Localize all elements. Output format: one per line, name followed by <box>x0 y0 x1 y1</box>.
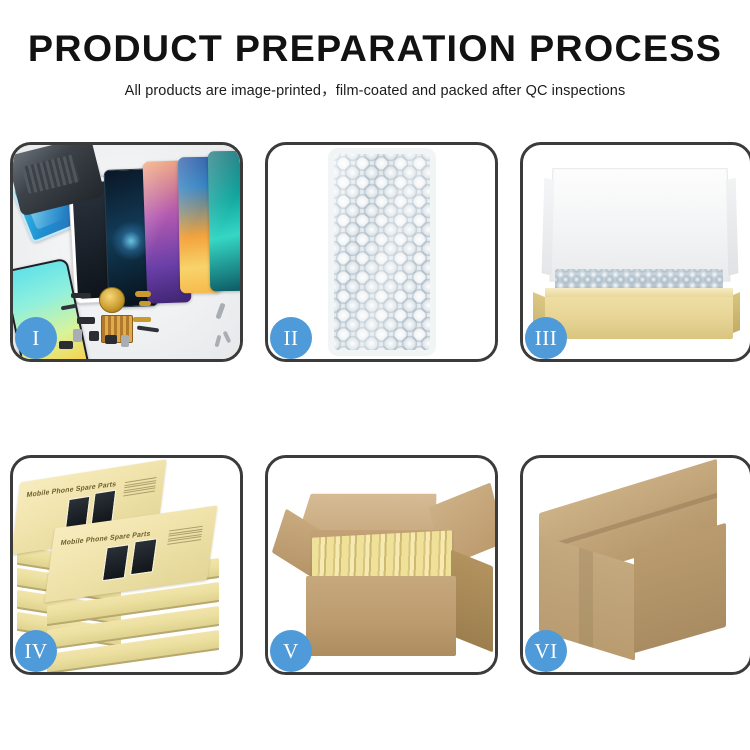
step-badge-1: I <box>15 317 57 359</box>
page-header: PRODUCT PREPARATION PROCESS All products… <box>0 0 750 100</box>
flex-cable-part <box>137 325 159 332</box>
screen-image <box>130 538 158 575</box>
mailer-lid <box>550 168 731 281</box>
page-title: PRODUCT PREPARATION PROCESS <box>0 30 750 67</box>
small-part <box>121 335 129 347</box>
page-subtitle: All products are image-printed，film-coat… <box>0 79 750 100</box>
small-part <box>105 335 117 344</box>
process-steps-grid: I II III <box>10 142 750 675</box>
screw-part <box>215 303 225 320</box>
carton-side-face <box>451 550 493 653</box>
small-part <box>139 301 151 306</box>
step-panel-6[interactable]: VI <box>520 455 750 675</box>
small-part <box>77 317 95 324</box>
small-part <box>71 293 91 298</box>
box-spec-lines <box>123 477 156 496</box>
small-part <box>89 331 99 341</box>
screw-part <box>223 331 232 344</box>
step-badge-6: VI <box>525 630 567 672</box>
plastic-sheen <box>334 154 430 350</box>
carton-front-face <box>306 576 456 656</box>
screen-image <box>102 544 130 581</box>
box-spec-lines <box>167 526 203 545</box>
small-part <box>133 317 151 322</box>
step-panel-4[interactable]: Mobile Phone Spare Parts Mobile Phone Sp… <box>10 455 243 675</box>
step-badge-3: III <box>525 317 567 359</box>
step-badge-5: V <box>270 630 312 672</box>
small-part <box>73 329 82 342</box>
bubble-wrapped-item <box>334 154 430 350</box>
step-badge-2: II <box>270 317 312 359</box>
step-panel-2[interactable]: II <box>265 142 498 362</box>
speaker-coil-part <box>99 287 125 313</box>
mailer-front-wall <box>545 295 733 339</box>
step-badge-4: IV <box>15 630 57 672</box>
phone-teal <box>208 151 240 292</box>
screw-part <box>215 335 222 348</box>
step-panel-5[interactable]: V <box>265 455 498 675</box>
small-part <box>59 341 73 349</box>
step-panel-1[interactable]: I <box>10 142 243 362</box>
step-panel-3[interactable]: III <box>520 142 750 362</box>
small-part <box>135 291 151 297</box>
